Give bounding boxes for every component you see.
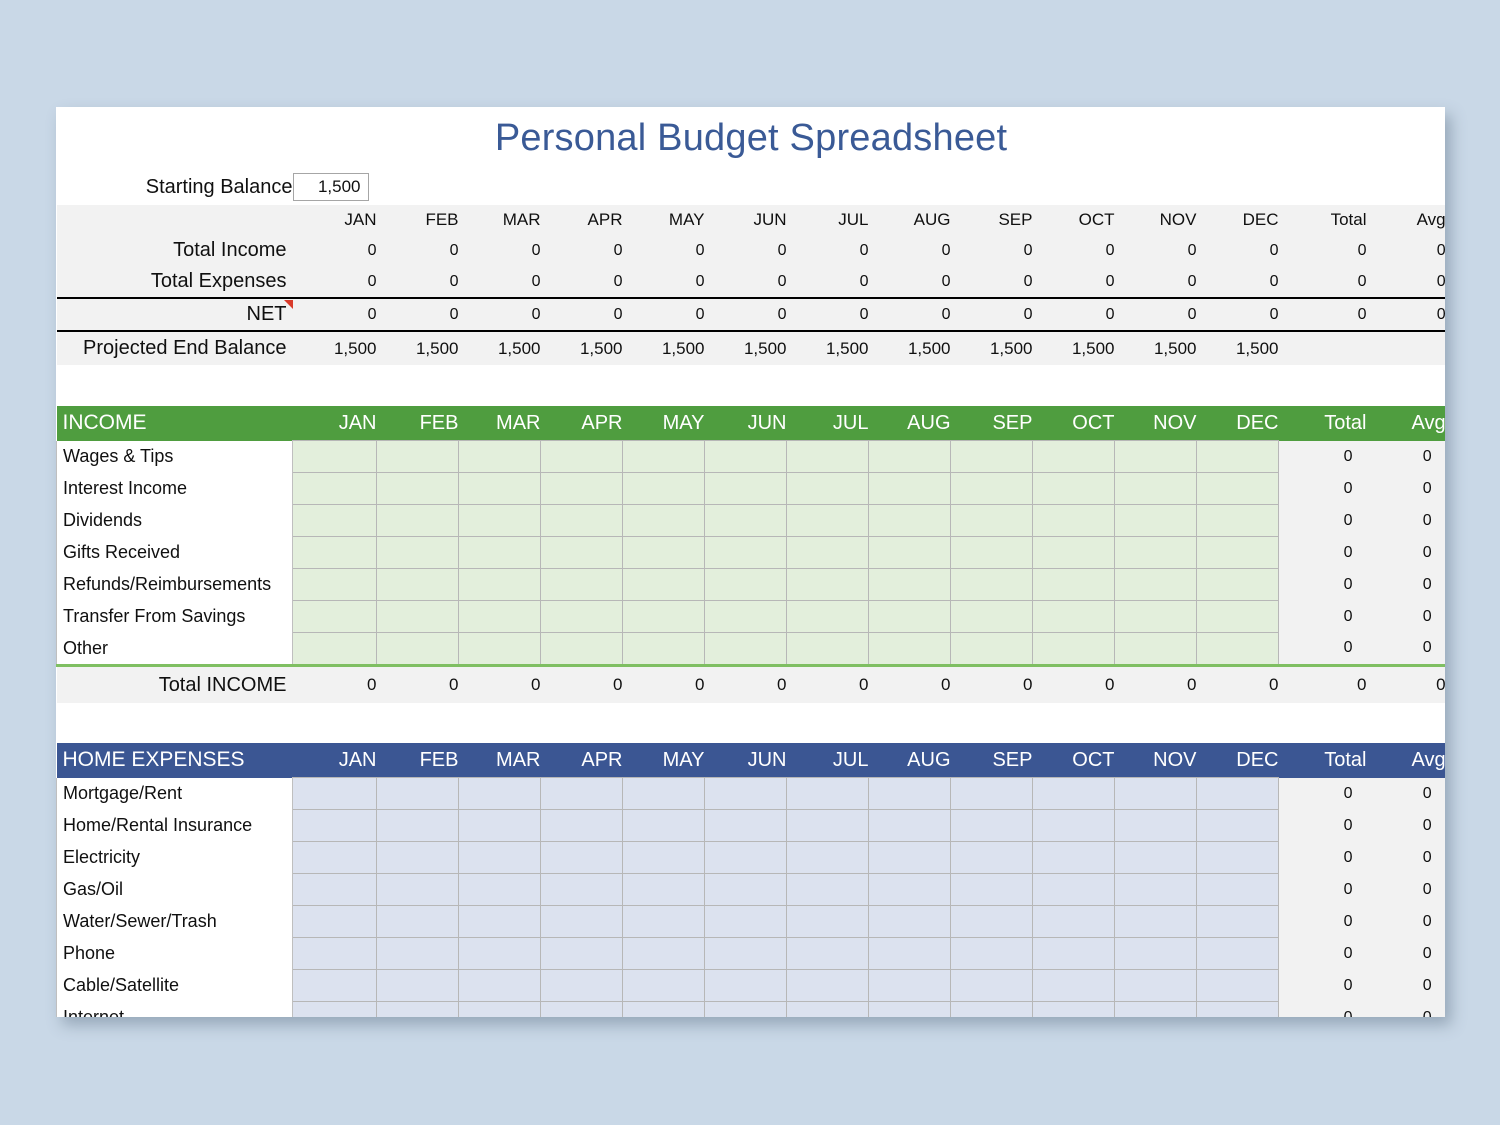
income-input-cell[interactable] (1033, 537, 1115, 569)
home-expenses-input-cell[interactable] (869, 778, 951, 810)
income-input-cell[interactable] (623, 441, 705, 473)
income-input-cell[interactable] (1115, 537, 1197, 569)
home-expenses-input-cell[interactable] (1197, 874, 1279, 906)
home-expenses-input-cell[interactable] (1197, 970, 1279, 1002)
home-expenses-row: Home/Rental Insurance00 (57, 810, 1446, 842)
projected-end-balance-cell: 1,500 (459, 331, 541, 365)
income-input-cell[interactable] (459, 441, 541, 473)
home-expenses-input-cell[interactable] (705, 1002, 787, 1018)
summary-cell: 0 (1197, 266, 1279, 298)
income-input-cell[interactable] (951, 569, 1033, 601)
income-input-cell[interactable] (623, 537, 705, 569)
home-expenses-total-cell: 0 (1279, 842, 1367, 874)
income-header-row: INCOMEJANFEBMARAPRMAYJUNJULAUGSEPOCTNOVD… (57, 406, 1446, 441)
home-expenses-row-label: Cable/Satellite (57, 970, 293, 1002)
income-input-cell[interactable] (1197, 633, 1279, 666)
home-expenses-input-cell[interactable] (377, 778, 459, 810)
home-expenses-input-cell[interactable] (1033, 778, 1115, 810)
home-expenses-input-cell[interactable] (293, 778, 377, 810)
home-expenses-input-cell[interactable] (459, 1002, 541, 1018)
home-expenses-input-cell[interactable] (1115, 938, 1197, 970)
home-expenses-input-cell[interactable] (705, 970, 787, 1002)
summary-header-jun: JUN (705, 205, 787, 235)
income-input-cell[interactable] (623, 569, 705, 601)
summary-cell: 0 (623, 235, 705, 266)
income-avg-cell: 0 (1367, 537, 1446, 569)
home-expenses-input-cell[interactable] (623, 1002, 705, 1018)
summary-cell: 0 (951, 266, 1033, 298)
projected-end-balance-cell: 1,500 (1115, 331, 1197, 365)
home-expenses-input-cell[interactable] (869, 970, 951, 1002)
starting-balance-input[interactable]: 1,500 (293, 173, 369, 201)
summary-header-jan: JAN (293, 205, 377, 235)
home-expenses-input-cell[interactable] (787, 906, 869, 938)
income-input-cell[interactable] (705, 537, 787, 569)
income-input-cell[interactable] (705, 505, 787, 537)
income-input-cell[interactable] (1033, 473, 1115, 505)
home-expenses-input-cell[interactable] (1197, 906, 1279, 938)
income-input-cell[interactable] (1033, 569, 1115, 601)
home-expenses-header-oct: OCT (1033, 743, 1115, 778)
home-expenses-input-cell[interactable] (1033, 970, 1115, 1002)
income-input-cell[interactable] (787, 505, 869, 537)
summary-row-label: Total Income (57, 235, 293, 266)
income-input-cell[interactable] (787, 473, 869, 505)
home-expenses-input-cell[interactable] (787, 778, 869, 810)
home-expenses-avg-cell: 0 (1367, 938, 1446, 970)
income-input-cell[interactable] (1197, 441, 1279, 473)
home-expenses-input-cell[interactable] (787, 842, 869, 874)
income-row: Refunds/Reimbursements00 (57, 569, 1446, 601)
home-expenses-header-row: HOME EXPENSESJANFEBMARAPRMAYJUNJULAUGSEP… (57, 743, 1446, 778)
income-input-cell[interactable] (1197, 473, 1279, 505)
home-expenses-row-label: Water/Sewer/Trash (57, 906, 293, 938)
summary-total-cell: 0 (1279, 298, 1367, 331)
income-avg-cell: 0 (1367, 441, 1446, 473)
home-expenses-input-cell[interactable] (1115, 874, 1197, 906)
home-expenses-row-label: Mortgage/Rent (57, 778, 293, 810)
home-expenses-avg-cell: 0 (1367, 970, 1446, 1002)
home-expenses-input-cell[interactable] (293, 970, 377, 1002)
summary-cell: 0 (1197, 298, 1279, 331)
home-expenses-input-cell[interactable] (293, 874, 377, 906)
summary-cell: 0 (541, 235, 623, 266)
income-input-cell[interactable] (541, 441, 623, 473)
summary-header-sep: SEP (951, 205, 1033, 235)
income-input-cell[interactable] (293, 537, 377, 569)
income-input-cell[interactable] (293, 473, 377, 505)
home-expenses-input-cell[interactable] (623, 842, 705, 874)
income-input-cell[interactable] (377, 633, 459, 666)
home-expenses-input-cell[interactable] (541, 810, 623, 842)
income-input-cell[interactable] (869, 537, 951, 569)
income-input-cell[interactable] (705, 441, 787, 473)
home-expenses-input-cell[interactable] (623, 938, 705, 970)
income-input-cell[interactable] (1115, 601, 1197, 633)
home-expenses-input-cell[interactable] (787, 938, 869, 970)
home-expenses-input-cell[interactable] (541, 874, 623, 906)
income-row: Interest Income00 (57, 473, 1446, 505)
income-input-cell[interactable] (1033, 505, 1115, 537)
summary-cell: 0 (377, 235, 459, 266)
home-expenses-input-cell[interactable] (951, 1002, 1033, 1018)
summary-cell: 0 (869, 266, 951, 298)
summary-row: Total Expenses00000000000000 (57, 266, 1446, 298)
income-input-cell[interactable] (869, 441, 951, 473)
summary-row: Total Income00000000000000 (57, 235, 1446, 266)
home-expenses-avg-cell: 0 (1367, 1002, 1446, 1018)
projected-end-balance-cell: 1,500 (377, 331, 459, 365)
income-row-label: Refunds/Reimbursements (57, 569, 293, 601)
home-expenses-input-cell[interactable] (293, 938, 377, 970)
income-row-label: Interest Income (57, 473, 293, 505)
home-expenses-input-cell[interactable] (541, 938, 623, 970)
projected-end-balance-avg (1367, 331, 1446, 365)
summary-cell: 0 (293, 235, 377, 266)
income-input-cell[interactable] (541, 537, 623, 569)
income-input-cell[interactable] (459, 473, 541, 505)
home-expenses-input-cell[interactable] (705, 842, 787, 874)
home-expenses-input-cell[interactable] (787, 1002, 869, 1018)
income-input-cell[interactable] (459, 537, 541, 569)
summary-cell: 0 (787, 235, 869, 266)
home-expenses-header-jun: JUN (705, 743, 787, 778)
income-input-cell[interactable] (293, 601, 377, 633)
total-income-cell: 0 (293, 666, 377, 704)
income-input-cell[interactable] (705, 473, 787, 505)
income-input-cell[interactable] (1197, 601, 1279, 633)
income-row: Transfer From Savings00 (57, 601, 1446, 633)
home-expenses-total-cell: 0 (1279, 810, 1367, 842)
income-input-cell[interactable] (787, 441, 869, 473)
section-spacer (57, 365, 1446, 406)
home-expenses-input-cell[interactable] (377, 906, 459, 938)
income-input-cell[interactable] (951, 633, 1033, 666)
summary-avg-cell: 0 (1367, 298, 1446, 331)
summary-header-jul: JUL (787, 205, 869, 235)
income-input-cell[interactable] (377, 441, 459, 473)
home-expenses-header-jul: JUL (787, 743, 869, 778)
home-expenses-input-cell[interactable] (1115, 970, 1197, 1002)
income-input-cell[interactable] (541, 569, 623, 601)
home-expenses-input-cell[interactable] (623, 810, 705, 842)
income-input-cell[interactable] (377, 537, 459, 569)
starting-balance-filler (459, 169, 1446, 205)
summary-cell: 0 (1115, 266, 1197, 298)
summary-header-dec: DEC (1197, 205, 1279, 235)
income-input-cell[interactable] (1197, 537, 1279, 569)
home-expenses-input-cell[interactable] (623, 778, 705, 810)
home-expenses-input-cell[interactable] (459, 906, 541, 938)
summary-cell: 0 (951, 235, 1033, 266)
income-input-cell[interactable] (1197, 505, 1279, 537)
home-expenses-input-cell[interactable] (377, 1002, 459, 1018)
home-expenses-input-cell[interactable] (459, 778, 541, 810)
total-income-cell: 0 (787, 666, 869, 704)
total-income-row: Total INCOME00000000000000 (57, 666, 1446, 704)
income-input-cell[interactable] (951, 601, 1033, 633)
home-expenses-input-cell[interactable] (1033, 906, 1115, 938)
home-expenses-row: Mortgage/Rent00 (57, 778, 1446, 810)
home-expenses-row: Phone00 (57, 938, 1446, 970)
home-expenses-input-cell[interactable] (459, 970, 541, 1002)
income-input-cell[interactable] (787, 633, 869, 666)
home-expenses-input-cell[interactable] (869, 906, 951, 938)
home-expenses-input-cell[interactable] (459, 874, 541, 906)
income-input-cell[interactable] (293, 505, 377, 537)
home-expenses-avg-cell: 0 (1367, 842, 1446, 874)
income-input-cell[interactable] (541, 473, 623, 505)
income-header-avg: Avg (1367, 406, 1446, 441)
home-expenses-input-cell[interactable] (787, 810, 869, 842)
home-expenses-input-cell[interactable] (1033, 842, 1115, 874)
total-income-cell: 0 (1033, 666, 1115, 704)
income-avg-cell: 0 (1367, 601, 1446, 633)
home-expenses-input-cell[interactable] (293, 1002, 377, 1018)
home-expenses-input-cell[interactable] (623, 906, 705, 938)
income-input-cell[interactable] (869, 601, 951, 633)
income-row: Other00 (57, 633, 1446, 666)
summary-cell: 0 (1115, 235, 1197, 266)
summary-cell: 0 (1033, 266, 1115, 298)
income-input-cell[interactable] (1033, 441, 1115, 473)
home-expenses-input-cell[interactable] (705, 906, 787, 938)
comment-flag-icon (284, 300, 293, 309)
home-expenses-input-cell[interactable] (705, 874, 787, 906)
home-expenses-input-cell[interactable] (1197, 842, 1279, 874)
home-expenses-input-cell[interactable] (869, 842, 951, 874)
home-expenses-row-label: Gas/Oil (57, 874, 293, 906)
income-input-cell[interactable] (1115, 633, 1197, 666)
income-input-cell[interactable] (705, 633, 787, 666)
home-expenses-input-cell[interactable] (705, 938, 787, 970)
summary-cell: 0 (1197, 235, 1279, 266)
summary-header-feb: FEB (377, 205, 459, 235)
summary-cell: 0 (623, 298, 705, 331)
summary-header-avg: Avg (1367, 205, 1446, 235)
income-input-cell[interactable] (541, 505, 623, 537)
home-expenses-row: Internet00 (57, 1002, 1446, 1018)
income-input-cell[interactable] (459, 633, 541, 666)
summary-total-cell: 0 (1279, 235, 1367, 266)
income-input-cell[interactable] (787, 537, 869, 569)
income-row-label: Wages & Tips (57, 441, 293, 473)
home-expenses-input-cell[interactable] (1033, 938, 1115, 970)
income-total-cell: 0 (1279, 537, 1367, 569)
home-expenses-input-cell[interactable] (869, 874, 951, 906)
title-row: Personal Budget Spreadsheet (57, 107, 1446, 169)
home-expenses-header-mar: MAR (459, 743, 541, 778)
income-header-jun: JUN (705, 406, 787, 441)
home-expenses-input-cell[interactable] (1033, 810, 1115, 842)
income-input-cell[interactable] (787, 569, 869, 601)
home-expenses-input-cell[interactable] (951, 810, 1033, 842)
home-expenses-input-cell[interactable] (705, 810, 787, 842)
income-input-cell[interactable] (951, 505, 1033, 537)
summary-cell: 0 (541, 266, 623, 298)
home-expenses-input-cell[interactable] (541, 906, 623, 938)
income-input-cell[interactable] (1115, 473, 1197, 505)
income-input-cell[interactable] (377, 505, 459, 537)
income-input-cell[interactable] (541, 633, 623, 666)
home-expenses-input-cell[interactable] (377, 938, 459, 970)
income-header-aug: AUG (869, 406, 951, 441)
summary-cell: 0 (293, 266, 377, 298)
projected-end-balance-cell: 1,500 (1197, 331, 1279, 365)
home-expenses-input-cell[interactable] (1033, 874, 1115, 906)
income-input-cell[interactable] (1197, 569, 1279, 601)
income-total-cell: 0 (1279, 441, 1367, 473)
income-input-cell[interactable] (869, 633, 951, 666)
summary-cell: 0 (541, 298, 623, 331)
summary-row-label: NET (57, 298, 293, 331)
home-expenses-row: Gas/Oil00 (57, 874, 1446, 906)
home-expenses-input-cell[interactable] (951, 778, 1033, 810)
home-expenses-input-cell[interactable] (377, 970, 459, 1002)
income-input-cell[interactable] (705, 569, 787, 601)
home-expenses-row: Water/Sewer/Trash00 (57, 906, 1446, 938)
home-expenses-input-cell[interactable] (869, 938, 951, 970)
home-expenses-header-nov: NOV (1115, 743, 1197, 778)
home-expenses-input-cell[interactable] (705, 778, 787, 810)
home-expenses-input-cell[interactable] (541, 970, 623, 1002)
income-input-cell[interactable] (377, 601, 459, 633)
income-input-cell[interactable] (623, 601, 705, 633)
income-input-cell[interactable] (1115, 441, 1197, 473)
income-input-cell[interactable] (377, 473, 459, 505)
income-input-cell[interactable] (1115, 569, 1197, 601)
projected-end-balance-total (1279, 331, 1367, 365)
home-expenses-input-cell[interactable] (951, 874, 1033, 906)
projected-end-balance-cell: 1,500 (1033, 331, 1115, 365)
income-input-cell[interactable] (459, 569, 541, 601)
page-title: Personal Budget Spreadsheet (57, 107, 1446, 169)
income-input-cell[interactable] (951, 441, 1033, 473)
income-input-cell[interactable] (293, 441, 377, 473)
home-expenses-input-cell[interactable] (293, 906, 377, 938)
summary-cell: 0 (1033, 298, 1115, 331)
home-expenses-input-cell[interactable] (541, 1002, 623, 1018)
summary-cell: 0 (1115, 298, 1197, 331)
home-expenses-input-cell[interactable] (293, 842, 377, 874)
home-expenses-input-cell[interactable] (1115, 778, 1197, 810)
summary-header-nov: NOV (1115, 205, 1197, 235)
projected-end-balance-cell: 1,500 (705, 331, 787, 365)
home-expenses-input-cell[interactable] (1033, 1002, 1115, 1018)
home-expenses-input-cell[interactable] (951, 842, 1033, 874)
income-input-cell[interactable] (951, 537, 1033, 569)
income-input-cell[interactable] (377, 569, 459, 601)
home-expenses-input-cell[interactable] (951, 970, 1033, 1002)
income-input-cell[interactable] (293, 569, 377, 601)
home-expenses-input-cell[interactable] (787, 970, 869, 1002)
summary-cell: 0 (705, 298, 787, 331)
home-expenses-header-jan: JAN (293, 743, 377, 778)
home-expenses-avg-cell: 0 (1367, 874, 1446, 906)
income-input-cell[interactable] (705, 601, 787, 633)
income-input-cell[interactable] (459, 601, 541, 633)
income-header-total: Total (1279, 406, 1367, 441)
summary-cell: 0 (459, 298, 541, 331)
income-input-cell[interactable] (869, 505, 951, 537)
projected-end-balance-row: Projected End Balance1,5001,5001,5001,50… (57, 331, 1446, 365)
income-input-cell[interactable] (623, 505, 705, 537)
home-expenses-input-cell[interactable] (541, 778, 623, 810)
income-input-cell[interactable] (951, 473, 1033, 505)
home-expenses-input-cell[interactable] (951, 906, 1033, 938)
summary-cell: 0 (705, 235, 787, 266)
income-input-cell[interactable] (787, 601, 869, 633)
home-expenses-input-cell[interactable] (459, 938, 541, 970)
home-expenses-input-cell[interactable] (459, 842, 541, 874)
income-input-cell[interactable] (459, 505, 541, 537)
home-expenses-input-cell[interactable] (951, 938, 1033, 970)
home-expenses-input-cell[interactable] (869, 1002, 951, 1018)
home-expenses-input-cell[interactable] (377, 874, 459, 906)
income-row-label: Gifts Received (57, 537, 293, 569)
home-expenses-input-cell[interactable] (869, 810, 951, 842)
projected-end-balance-cell: 1,500 (541, 331, 623, 365)
home-expenses-header-label: HOME EXPENSES (57, 743, 293, 778)
income-header-label: INCOME (57, 406, 293, 441)
summary-total-cell: 0 (1279, 266, 1367, 298)
income-header-sep: SEP (951, 406, 1033, 441)
home-expenses-input-cell[interactable] (377, 842, 459, 874)
home-expenses-total-cell: 0 (1279, 938, 1367, 970)
income-input-cell[interactable] (869, 473, 951, 505)
summary-row: NET00000000000000 (57, 298, 1446, 331)
summary-header-mar: MAR (459, 205, 541, 235)
income-total-cell: 0 (1279, 505, 1367, 537)
home-expenses-input-cell[interactable] (293, 810, 377, 842)
total-income-cell: 0 (1115, 666, 1197, 704)
income-total-cell: 0 (1279, 569, 1367, 601)
income-input-cell[interactable] (623, 473, 705, 505)
home-expenses-input-cell[interactable] (1197, 778, 1279, 810)
home-expenses-total-cell: 0 (1279, 874, 1367, 906)
home-expenses-input-cell[interactable] (623, 970, 705, 1002)
income-header-mar: MAR (459, 406, 541, 441)
summary-cell: 0 (1033, 235, 1115, 266)
home-expenses-input-cell[interactable] (1115, 906, 1197, 938)
income-input-cell[interactable] (869, 569, 951, 601)
income-input-cell[interactable] (1115, 505, 1197, 537)
home-expenses-input-cell[interactable] (377, 810, 459, 842)
total-income-cell: 0 (459, 666, 541, 704)
income-input-cell[interactable] (1033, 601, 1115, 633)
income-header-may: MAY (623, 406, 705, 441)
projected-end-balance-cell: 1,500 (951, 331, 1033, 365)
home-expenses-input-cell[interactable] (1197, 1002, 1279, 1018)
home-expenses-input-cell[interactable] (541, 842, 623, 874)
income-input-cell[interactable] (541, 601, 623, 633)
home-expenses-input-cell[interactable] (787, 874, 869, 906)
income-input-cell[interactable] (293, 633, 377, 666)
income-input-cell[interactable] (1033, 633, 1115, 666)
summary-cell: 0 (787, 298, 869, 331)
income-input-cell[interactable] (623, 633, 705, 666)
home-expenses-input-cell[interactable] (1197, 938, 1279, 970)
total-income-cell: 0 (377, 666, 459, 704)
projected-end-balance-cell: 1,500 (293, 331, 377, 365)
home-expenses-input-cell[interactable] (1115, 1002, 1197, 1018)
summary-cell: 0 (293, 298, 377, 331)
home-expenses-input-cell[interactable] (1197, 810, 1279, 842)
home-expenses-input-cell[interactable] (1115, 842, 1197, 874)
home-expenses-input-cell[interactable] (459, 810, 541, 842)
home-expenses-input-cell[interactable] (1115, 810, 1197, 842)
home-expenses-input-cell[interactable] (623, 874, 705, 906)
